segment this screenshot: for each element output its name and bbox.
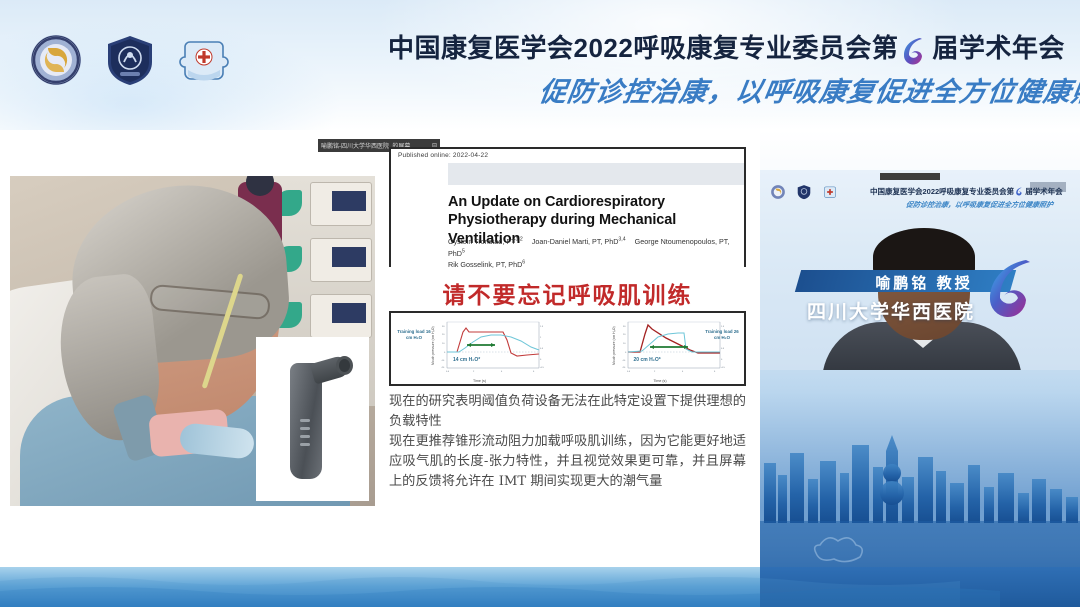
imt-pressure-flow-charts: Training load 16 cm H₂O [389,311,746,386]
svg-text:30: 30 [442,326,445,328]
svg-text:0: 0 [540,359,542,361]
svg-text:10: 10 [442,343,445,345]
svg-text:20: 20 [623,334,626,336]
article-authors: Oystein Tronstad, PT1,2Joan-Daniel Marti… [448,237,738,271]
speaker-organization: 四川大学华西医院 [776,297,1006,324]
author-entry: Rik Gosselink, PT, PhD6 [448,260,525,269]
video-background-titlebar [880,173,940,180]
video-corner-badge [1030,182,1066,192]
chart-xlabel-left: Time (s) [473,379,486,383]
svg-text:0: 0 [721,359,723,361]
organization-logos [28,32,232,88]
conference-subtitle-calligraphy: 促防诊控治康，以呼吸康复促进全方位健康照护 [537,70,1080,109]
author-entry: Joan-Daniel Marti, PT, PhD3,4 [532,237,626,246]
svg-text:-20: -20 [441,367,445,369]
journal-article-header: Published online: 2022-04-22 An Update o… [389,147,746,267]
wave-overlay [0,567,1080,607]
svg-text:0.0: 0.0 [627,371,631,373]
slide-red-heading: 请不要忘记呼吸肌训练 [389,276,746,310]
inspiratory-muscle-training-device-photo [256,337,369,501]
svg-text:2: 2 [654,371,656,373]
svg-text:-10: -10 [622,360,626,362]
chart-inline-label-right: 20 cm H₂O* [634,357,661,363]
body-paragraph: 现在更推荐锥形流动阻力加载呼吸肌训练，因为它能更好地适应吸气肌的长度-张力特性，… [389,432,746,492]
svg-text:0.5: 0.5 [540,348,544,350]
svg-text:0.0: 0.0 [446,371,450,373]
shared-screen-region: 喻鹏铭-四川大学华西医院_的屏幕 ⊟ [0,130,760,607]
svg-text:1: 1 [540,337,542,339]
chart-training-load-label-right: Training load 26 cm H₂O [702,329,742,341]
svg-text:-10: -10 [441,360,445,362]
svg-text:2: 2 [473,371,475,373]
svg-text:-0.5: -0.5 [721,367,726,369]
svg-text:6: 6 [533,371,535,373]
conference-title-part2: 届学术年会 [932,28,1065,65]
bottom-water-strip [0,567,1080,607]
journal-masthead-bar [448,163,744,185]
chart-ylabel-left: Mouth pressure (cm H₂O) [431,326,435,365]
conference-title: 中国康复医学会2022呼吸康复专业委员会第 届学术年会 [388,28,1065,65]
chart-xlabel-right: Time (s) [654,379,667,383]
chart-threshold-loading: Training load 16 cm H₂O [391,313,568,384]
svg-text:0: 0 [625,352,627,354]
slide-body-text: 现在的研究表明阈值负荷设备无法在此特定设置下提供理想的负载特性 现在更推荐锥形流… [389,392,746,492]
conference-title-part1: 中国康复医学会2022呼吸康复专业委员会第 [388,28,898,65]
chart-tapered-flow-loading: 3020 100 -10-20 1.51 0.50 -0.5 0.02 46 2… [568,313,745,384]
svg-text:-0.5: -0.5 [540,367,545,369]
author-entry: Oystein Tronstad, PT1,2 [448,237,523,246]
svg-text:-20: -20 [622,367,626,369]
meeting-screenshot: 中国康复医学会2022呼吸康复专业委员会第 届学术年会 促防诊控治康，以呼吸康复… [0,0,1080,607]
chart-ylabel-right: Mouth pressure (cm H₂O) [612,326,616,365]
logo-hospital-cross [176,32,232,88]
swirl-six-icon [900,36,930,66]
video-background-logos [770,184,838,200]
svg-text:30: 30 [623,326,626,328]
svg-text:4: 4 [501,371,503,373]
swirl-six-icon [1015,187,1024,196]
svg-text:1.5: 1.5 [721,326,725,328]
chart-training-load-label: Training load 16 cm H₂O [394,329,434,341]
logo-respiratory-committee [102,32,158,88]
chart-inline-label-left: 14 cm H₂O* [453,357,480,363]
body-paragraph: 现在的研究表明阈值负荷设备无法在此特定设置下提供理想的负载特性 [389,392,746,432]
chart-plot-left: 3020 100 -10-20 1.51 0.50 -0.5 0.02 46 [433,320,551,380]
swirl-six-icon [982,256,1044,324]
svg-text:4: 4 [682,371,684,373]
svg-text:20: 20 [442,334,445,336]
svg-text:1.5: 1.5 [540,326,544,328]
patient-on-mechanical-ventilation-photo [10,176,375,506]
logo-chinese-rehab-association [28,32,84,88]
published-online-date: Published online: 2022-04-22 [398,152,488,159]
svg-text:0.5: 0.5 [721,348,725,350]
conference-header-banner: 中国康复医学会2022呼吸康复专业委员会第 届学术年会 促防诊控治康，以呼吸康复… [0,0,1080,130]
svg-text:10: 10 [623,343,626,345]
video-background-subtitle: 促防诊控治康，以呼吸康复促进全方位健康照护 [905,200,1054,210]
svg-text:0: 0 [444,352,446,354]
svg-text:6: 6 [714,371,716,373]
speaker-panel: 中国康复医学会2022呼吸康复专业委员会第 届学术年会 促防诊控治康，以呼吸康复… [760,130,1080,607]
